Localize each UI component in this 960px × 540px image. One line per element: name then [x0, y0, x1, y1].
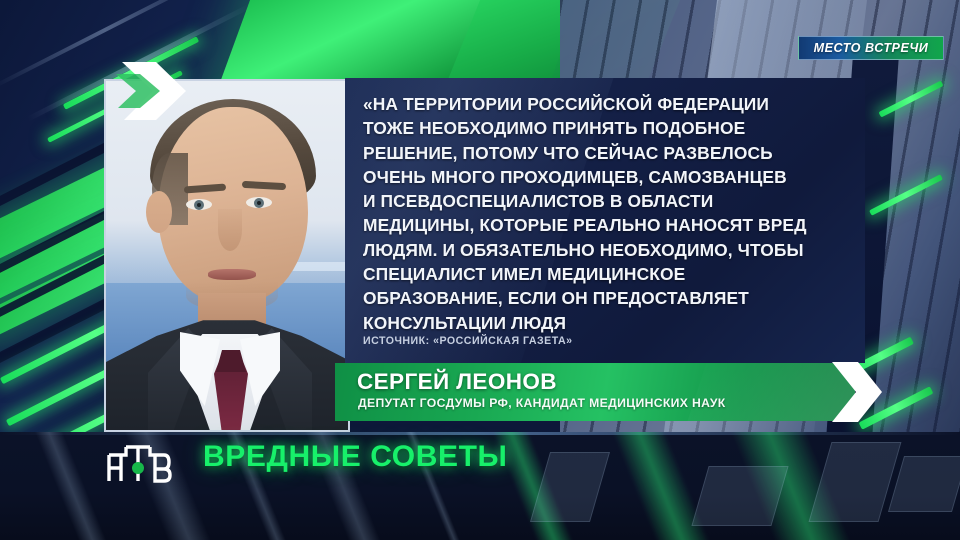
portrait-ear [146, 191, 172, 233]
band-panel [888, 456, 960, 512]
quote-line: «НА ТЕРРИТОРИИ РОССИЙСКОЙ ФЕДЕРАЦИИ [363, 92, 855, 116]
show-badge: МЕСТО ВСТРЕЧИ [798, 36, 944, 60]
speaker-photo [104, 79, 350, 432]
quote-line: И ПСЕВДОСПЕЦИАЛИСТОВ В ОБЛАСТИ [363, 189, 855, 213]
show-badge-label: МЕСТО ВСТРЕЧИ [814, 41, 929, 55]
quote-line: ОЧЕНЬ МНОГО ПРОХОДИМЦЕВ, САМОЗВАНЦЕВ [363, 165, 855, 189]
portrait-eye [186, 199, 212, 210]
speaker-name-bar: СЕРГЕЙ ЛЕОНОВ ДЕПУТАТ ГОСДУМЫ РФ, КАНДИД… [335, 363, 855, 421]
chevron-arrow-icon [828, 360, 884, 424]
quote-line: РЕШЕНИЕ, ПОТОМУ ЧТО СЕЙЧАС РАЗВЕЛОСЬ [363, 141, 855, 165]
chevron-arrow-icon [116, 58, 190, 124]
ntv-logo-icon [104, 441, 172, 485]
quote-panel: «НА ТЕРРИТОРИИ РОССИЙСКОЙ ФЕДЕРАЦИИ ТОЖЕ… [345, 78, 865, 363]
quote-line: ОБРАЗОВАНИЕ, ЕСЛИ ОН ПРЕДОСТАВЛЯЕТ [363, 286, 855, 310]
band-panel [530, 452, 610, 522]
quote-line: ТОЖЕ НЕОБХОДИМО ПРИНЯТЬ ПОДОБНОЕ [363, 116, 855, 140]
portrait-iris [254, 198, 264, 208]
quote-source: ИСТОЧНИК: «РОССИЙСКАЯ ГАЗЕТА» [363, 335, 573, 347]
quote-line: КОНСУЛЬТАЦИИ ЛЮДЯ [363, 311, 855, 335]
portrait-nose [218, 209, 242, 251]
portrait-iris [194, 200, 204, 210]
ticker-title: ВРЕДНЫЕ СОВЕТЫ [203, 440, 507, 474]
speaker-name: СЕРГЕЙ ЛЕОНОВ [357, 369, 557, 395]
speaker-role: ДЕПУТАТ ГОСДУМЫ РФ, КАНДИДАТ МЕДИЦИНСКИХ… [358, 396, 726, 410]
portrait-mouth [208, 269, 256, 280]
quote-text: «НА ТЕРРИТОРИИ РОССИЙСКОЙ ФЕДЕРАЦИИ ТОЖЕ… [363, 92, 855, 335]
portrait-eye [246, 197, 272, 208]
quote-line: СПЕЦИАЛИСТ ИМЕЛ МЕДИЦИНСКОЕ [363, 262, 855, 286]
quote-line: ЛЮДЯМ. И ОБЯЗАТЕЛЬНО НЕОБХОДИМО, ЧТОБЫ [363, 238, 855, 262]
ntv-logo-ball [132, 462, 144, 474]
broadcast-screen: «НА ТЕРРИТОРИИ РОССИЙСКОЙ ФЕДЕРАЦИИ ТОЖЕ… [0, 0, 960, 540]
quote-line: МЕДИЦИНЫ, КОТОРЫЕ РЕАЛЬНО НАНОСЯТ ВРЕД [363, 213, 855, 237]
